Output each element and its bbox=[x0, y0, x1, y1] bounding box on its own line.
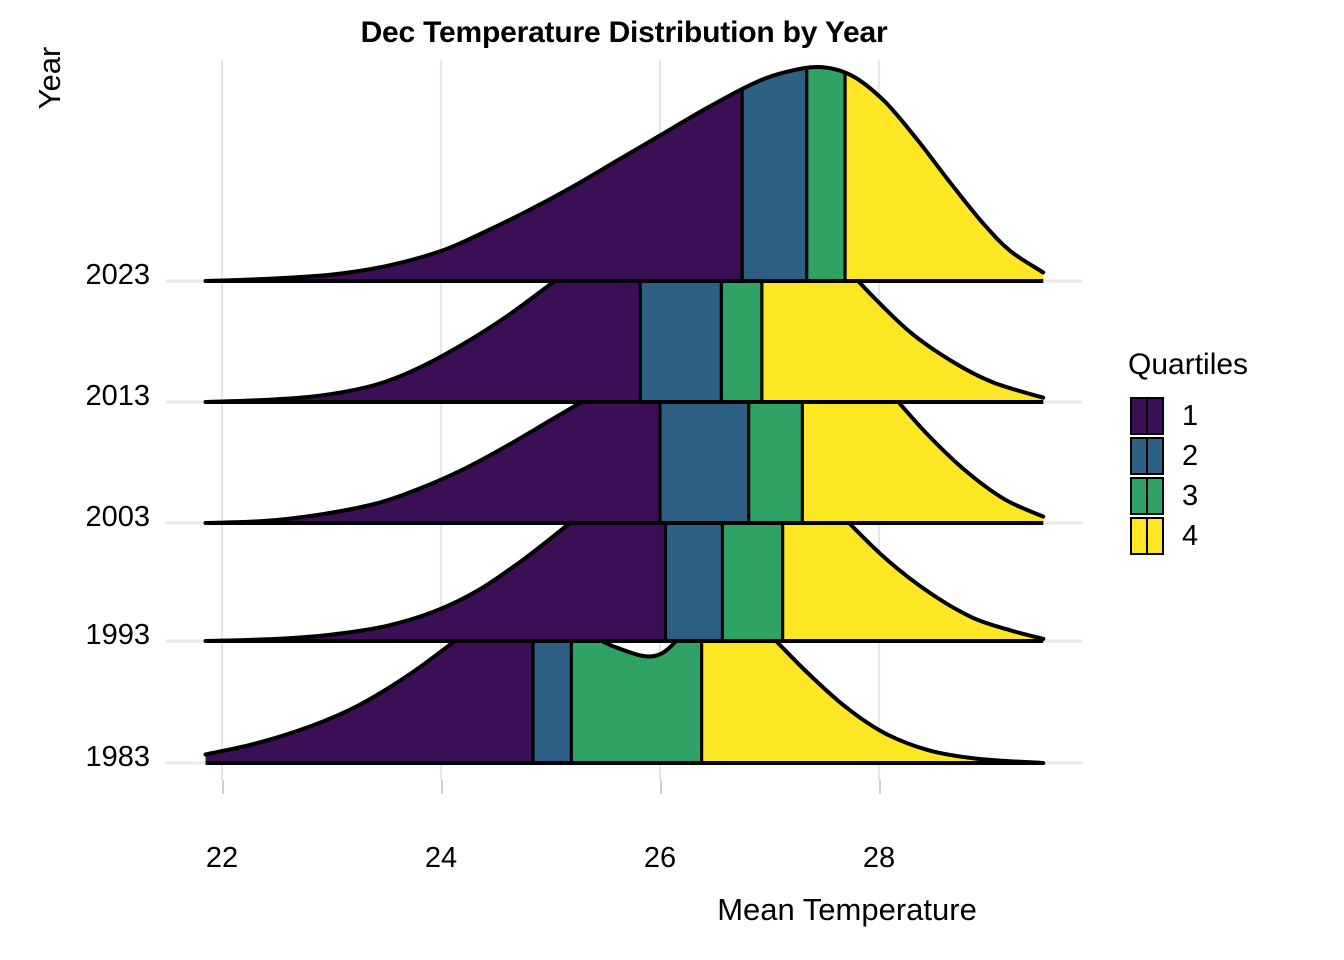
ridgeline-plot bbox=[166, 60, 1082, 780]
ridge-quartile-2 bbox=[742, 68, 807, 281]
y-axis-title: Year bbox=[32, 0, 68, 158]
plot-panel bbox=[166, 60, 1082, 780]
x-tick-mark bbox=[879, 780, 881, 794]
x-tick-mark bbox=[441, 780, 443, 794]
page-title: Dec Temperature Distribution by Year bbox=[166, 16, 1082, 50]
x-tick-label-24: 24 bbox=[401, 842, 481, 875]
x-tick-label-22: 22 bbox=[182, 842, 262, 875]
x-tick-mark bbox=[660, 780, 662, 794]
legend-title: Quartiles bbox=[1128, 348, 1308, 382]
legend-label-3: 3 bbox=[1182, 480, 1198, 513]
legend-key-icon-1 bbox=[1130, 397, 1164, 435]
ridge-quartile-3 bbox=[807, 67, 845, 281]
x-tick-label-28: 28 bbox=[839, 842, 919, 875]
legend-row-4[interactable]: 4 bbox=[1108, 516, 1308, 556]
legend-row-2[interactable]: 2 bbox=[1108, 436, 1308, 476]
ridge-2023 bbox=[206, 67, 1044, 281]
legend-label-1: 1 bbox=[1182, 400, 1198, 433]
legend-key-icon-3 bbox=[1130, 477, 1164, 515]
y-tick-label-2003: 2003 bbox=[20, 501, 150, 534]
x-tick-label-26: 26 bbox=[620, 842, 700, 875]
legend-items: 1234 bbox=[1108, 396, 1308, 556]
legend-key-icon-2 bbox=[1130, 437, 1164, 475]
y-tick-label-1993: 1993 bbox=[20, 619, 150, 652]
x-axis-title: Mean Temperature bbox=[612, 892, 1082, 928]
legend-label-4: 4 bbox=[1182, 520, 1198, 553]
legend-label-2: 2 bbox=[1182, 440, 1198, 473]
legend: Quartiles 1234 bbox=[1108, 348, 1308, 556]
ridge-quartile-1 bbox=[206, 89, 743, 281]
y-tick-label-1983: 1983 bbox=[20, 741, 150, 774]
y-tick-label-2013: 2013 bbox=[20, 380, 150, 413]
legend-row-1[interactable]: 1 bbox=[1108, 396, 1308, 436]
legend-row-3[interactable]: 3 bbox=[1108, 476, 1308, 516]
y-tick-label-2023: 2023 bbox=[20, 259, 150, 292]
x-tick-mark bbox=[222, 780, 224, 794]
legend-key-icon-4 bbox=[1130, 517, 1164, 555]
chart-root: Dec Temperature Distribution by Year Yea… bbox=[0, 0, 1344, 960]
